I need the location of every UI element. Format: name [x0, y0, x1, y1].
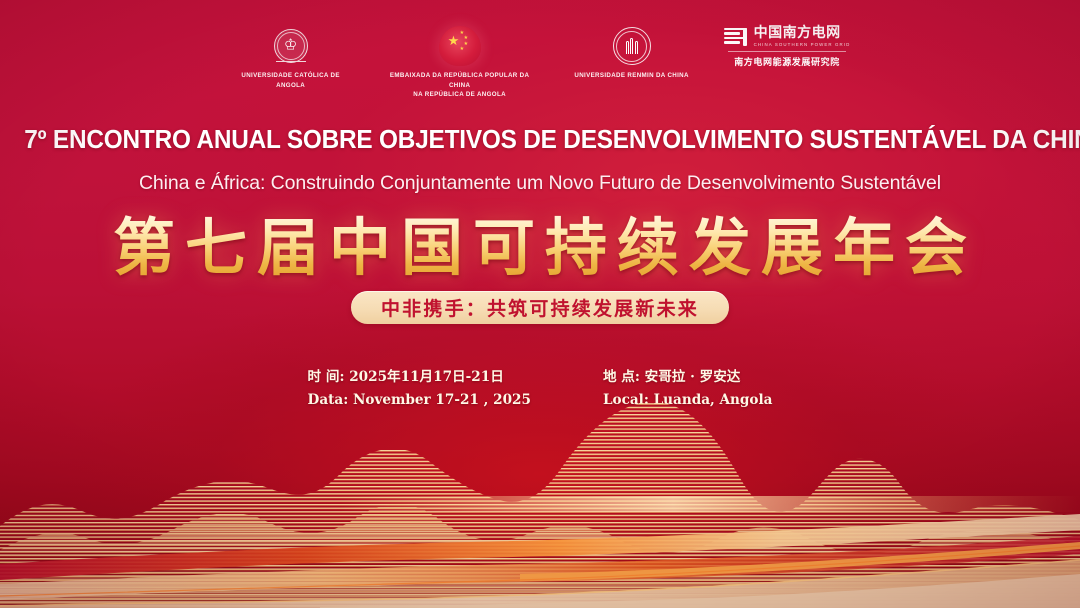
page-title-chinese: 第七届中国可持续发展年会 [0, 215, 1080, 282]
csg-logo-icon [724, 27, 747, 47]
horizon-glow [340, 496, 1080, 512]
logo-caption: EMBAIXADA DA REPÚBLICA POPULAR DA CHINA … [380, 71, 540, 100]
theme-ribbon: 中非携手：共筑可持续发展新未来 [0, 291, 1080, 324]
theme-ribbon-label: 中非携手：共筑可持续发展新未来 [381, 294, 699, 321]
logo-caption: UNIVERSIDADE CATÓLICA DE ANGOLA [230, 71, 352, 90]
china-flag-icon: ★ ★ ★ ★ ★ [439, 26, 481, 66]
subheadline-portuguese: China e África: Construindo Conjuntament… [0, 172, 1080, 195]
partner-logo-strip: ♔ UNIVERSIDADE CATÓLICA DE ANGOLA ★ ★ ★ … [0, 26, 1080, 100]
logo-universidade-catolica-de-angola: ♔ UNIVERSIDADE CATÓLICA DE ANGOLA [216, 26, 366, 90]
logo-china-southern-power-grid: 中国南方电网 CHINA SOUTHERN POWER GRID 南方电网能源发… [710, 26, 865, 68]
logo-embaixada-china: ★ ★ ★ ★ ★ EMBAIXADA DA REPÚBLICA POPULAR… [366, 26, 554, 100]
renmin-university-seal-icon [613, 26, 651, 66]
ucan-seal-icon: ♔ [272, 26, 310, 66]
conference-poster: ♔ UNIVERSIDADE CATÓLICA DE ANGOLA ★ ★ ★ … [0, 0, 1080, 608]
csg-name-en: CHINA SOUTHERN POWER GRID [754, 42, 851, 47]
headline-portuguese: 7º ENCONTRO ANUAL SOBRE OBJETIVOS DE DES… [24, 126, 1055, 155]
logo-caption: UNIVERSIDADE RENMIN DA CHINA [568, 71, 696, 81]
csg-name-cn: 中国南方电网 [754, 26, 851, 40]
logo-universidade-renmin-da-china: UNIVERSIDADE RENMIN DA CHINA [554, 26, 710, 81]
csg-institute-name: 南方电网能源发展研究院 [734, 55, 840, 68]
divider [728, 51, 846, 52]
decorative-mountain-artwork [0, 378, 1080, 608]
